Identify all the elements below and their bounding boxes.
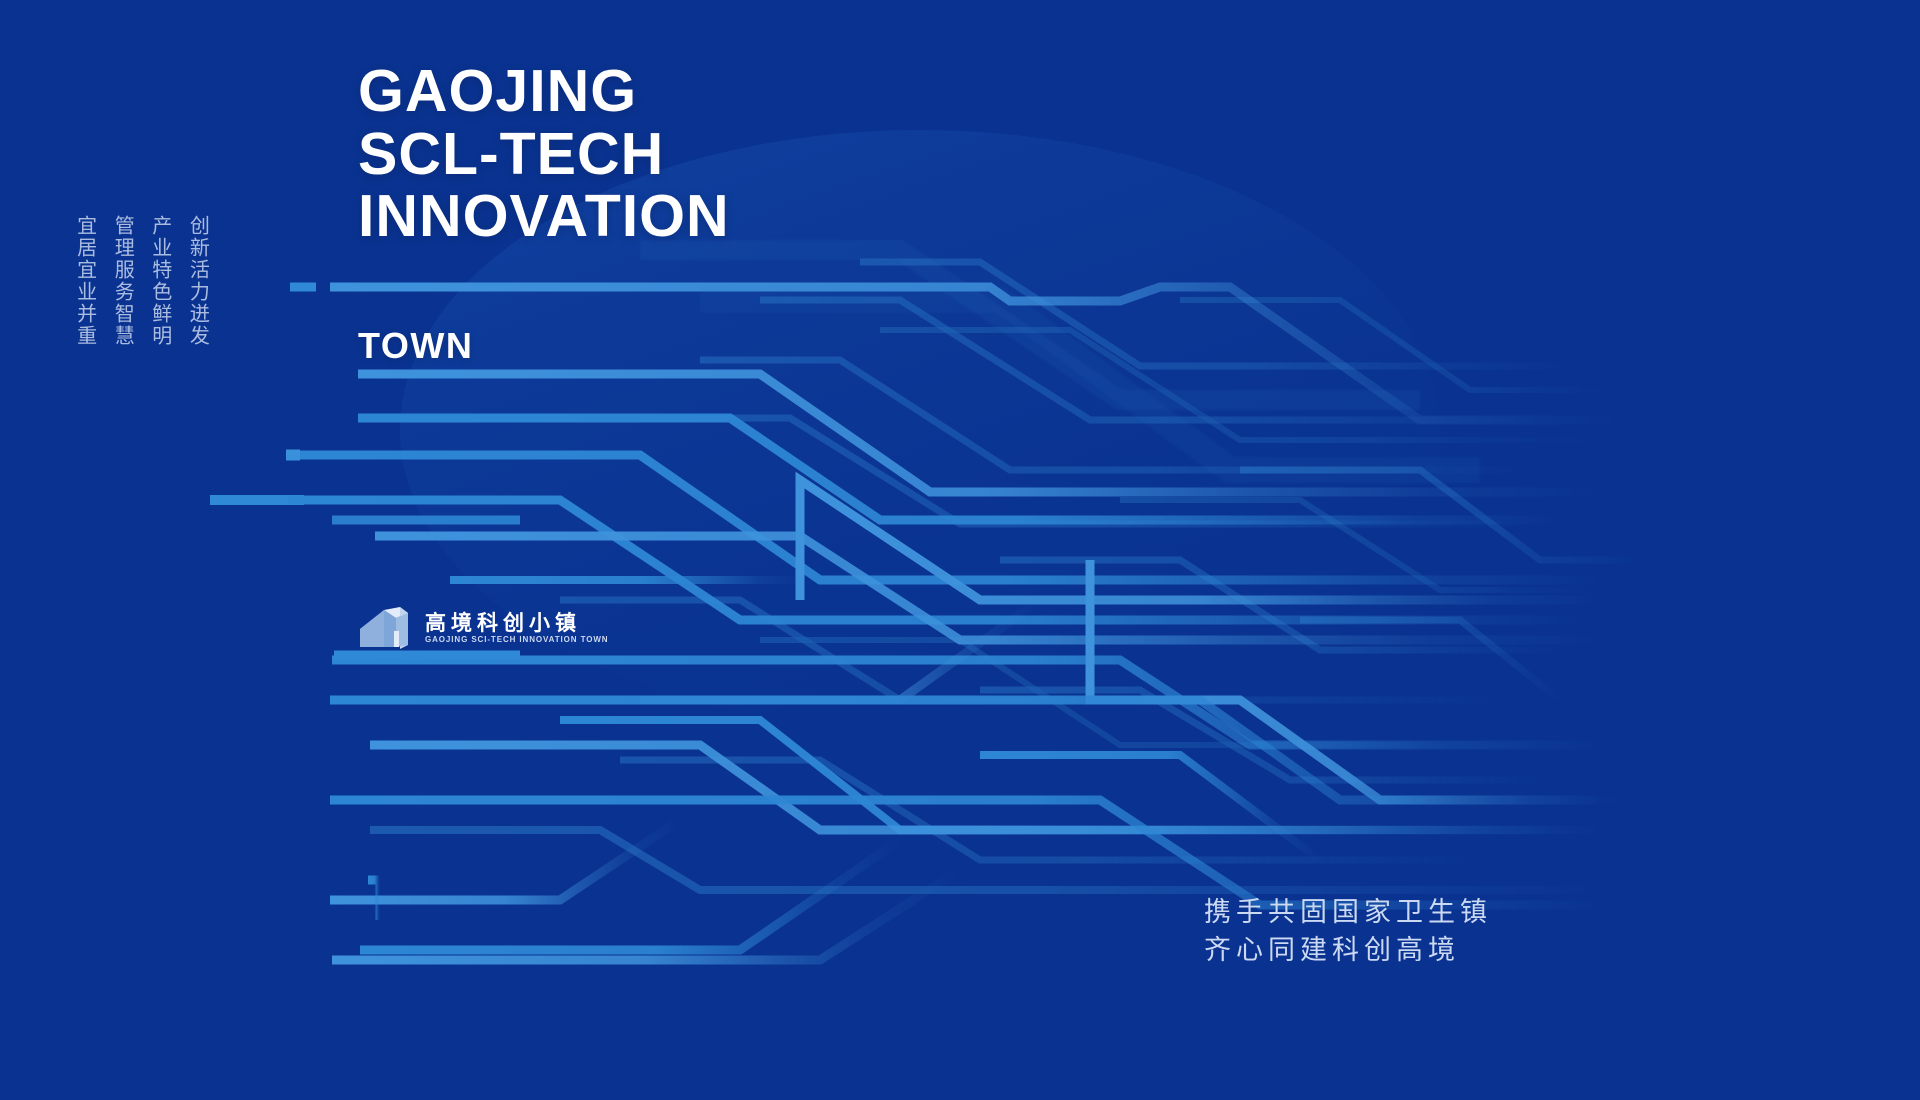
bottom-slogan: 携手共固国家卫生镇 齐心同建科创高境 xyxy=(1204,893,1492,970)
brand-logo: 高境科创小镇 GAOJING SCI-TECH INNOVATION TOWN xyxy=(356,605,608,651)
vertical-slogan: 创新活力迸发 产业特色鲜明 管理服务智慧 宜居宜业并重 xyxy=(72,215,208,347)
vertical-slogan-col-4: 宜居宜业并重 xyxy=(72,215,96,347)
house-building-icon xyxy=(356,605,414,651)
bottom-slogan-line-1: 携手共固国家卫生镇 xyxy=(1204,893,1492,931)
vertical-slogan-col-2: 产业特色鲜明 xyxy=(147,215,171,347)
poster-canvas: 创新活力迸发 产业特色鲜明 管理服务智慧 宜居宜业并重 GAOJING SCL-… xyxy=(0,0,1920,1100)
vertical-slogan-col-1: 创新活力迸发 xyxy=(185,215,209,347)
headline-line-1: GAOJING xyxy=(358,60,730,123)
bottom-slogan-line-2: 齐心同建科创高境 xyxy=(1204,931,1492,969)
page-title: GAOJING SCL-TECH INNOVATION xyxy=(358,60,730,248)
logo-text-block: 高境科创小镇 GAOJING SCI-TECH INNOVATION TOWN xyxy=(425,613,608,644)
logo-name-cn: 高境科创小镇 xyxy=(425,613,608,634)
headline-line-2: SCL-TECH xyxy=(358,123,730,186)
headline-line-4: TOWN xyxy=(358,325,473,367)
headline-line-3: INNOVATION xyxy=(358,185,730,248)
logo-name-en: GAOJING SCI-TECH INNOVATION TOWN xyxy=(425,636,608,644)
circuit-trace-background xyxy=(0,0,1920,1100)
vertical-slogan-col-3: 管理服务智慧 xyxy=(110,215,134,347)
